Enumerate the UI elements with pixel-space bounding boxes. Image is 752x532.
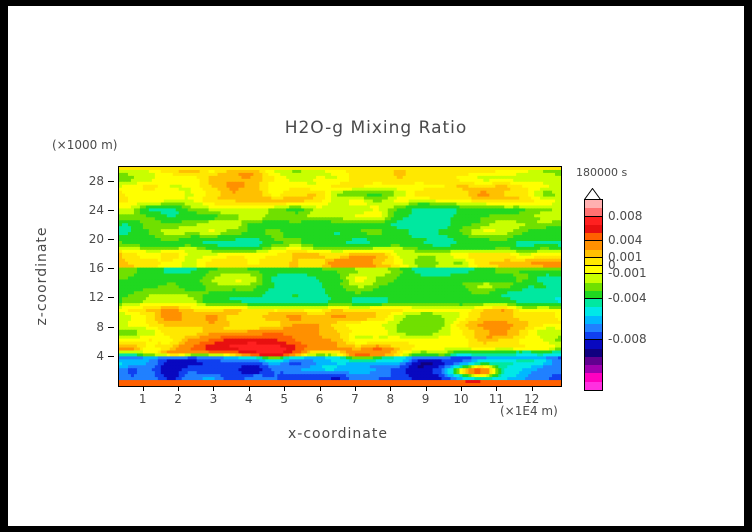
y-tick-mark [108,268,114,269]
colorbar-band [585,365,602,373]
y-tick-label: 8 [96,320,104,334]
colorbar-band [585,299,602,307]
colorbar-tick [584,257,603,258]
colorbar-tick [584,240,603,241]
y-tick-label: 12 [89,290,104,304]
x-tick-label: 1 [139,392,147,406]
y-axis-ticks: 481216202428 [70,166,114,385]
y-tick-label: 4 [96,349,104,363]
y-tick-mark [108,297,114,298]
figure-canvas: H2O-g Mixing Ratio (×1000 m) z-coordinat… [8,6,744,526]
colorbar-band [585,382,602,390]
x-tick-mark [284,386,285,391]
y-tick-label: 20 [89,232,104,246]
x-axis-ticks: 123456789101112 [118,387,562,413]
x-tick-mark [213,386,214,391]
x-tick-mark [249,386,250,391]
colorbar-band [585,217,602,225]
x-tick-label: 7 [351,392,359,406]
colorbar-label: -0.001 [608,266,647,280]
page-title: H2O-g Mixing Ratio [8,118,744,138]
x-tick-label: 3 [210,392,218,406]
x-tick-label: 5 [280,392,288,406]
colorbar-tick [584,216,603,217]
colorbar-tick [584,298,603,299]
x-tick-label: 4 [245,392,253,406]
x-tick-mark [496,386,497,391]
colorbar-tick [584,265,603,266]
x-tick-mark [426,386,427,391]
x-tick-label: 9 [422,392,430,406]
colorbar-band [585,307,602,315]
contour-plot-area [118,166,562,387]
x-tick-label: 6 [316,392,324,406]
colorbar-band [585,324,602,332]
y-tick-mark [108,327,114,328]
y-axis-unit-label: (×1000 m) [52,138,117,152]
x-tick-label: 10 [453,392,468,406]
contour-field [119,167,561,386]
x-tick-mark [320,386,321,391]
colorbar-label: -0.008 [608,332,647,346]
colorbar-band [585,200,602,208]
x-tick-label: 8 [386,392,394,406]
x-tick-mark [532,386,533,391]
y-tick-mark [108,239,114,240]
x-tick-mark [143,386,144,391]
colorbar-tick [584,273,603,274]
colorbar-time-label: 180000 s [576,166,627,179]
x-tick-mark [178,386,179,391]
x-axis-unit-label: (×1E4 m) [500,404,558,418]
y-tick-mark [108,356,114,357]
colorbar-label: -0.004 [608,291,647,305]
colorbar-band [585,349,602,357]
colorbar [584,199,603,391]
colorbar-label: 0.004 [608,233,642,247]
colorbar-label: 0.008 [608,209,642,223]
x-tick-mark [355,386,356,391]
colorbar-band [585,241,602,249]
colorbar-band [585,340,602,348]
colorbar-band [585,274,602,282]
y-tick-mark [108,210,114,211]
x-tick-label: 2 [174,392,182,406]
image-border: H2O-g Mixing Ratio (×1000 m) z-coordinat… [0,0,752,532]
colorbar-band [585,316,602,324]
y-tick-label: 28 [89,174,104,188]
x-tick-mark [461,386,462,391]
x-tick-mark [390,386,391,391]
colorbar-band [585,225,602,233]
x-axis-title: x-coordinate [188,426,488,442]
y-tick-label: 24 [89,203,104,217]
y-tick-label: 16 [89,261,104,275]
y-tick-mark [108,181,114,182]
colorbar-tick [584,339,603,340]
colorbar-band [585,283,602,291]
colorbar-band [585,373,602,381]
colorbar-band [585,357,602,365]
y-axis-title: z-coordinate [34,196,50,356]
